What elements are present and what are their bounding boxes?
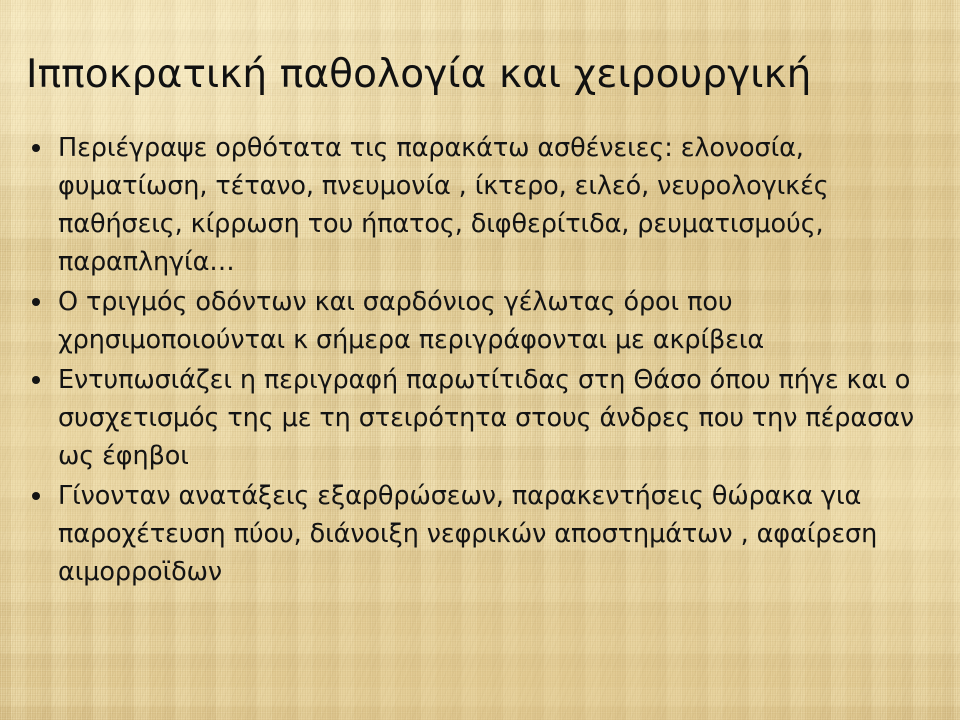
- bullet-item-terms: Ο τριγμός οδόντων και σαρδόνιος γέλωτας …: [26, 283, 938, 359]
- bullet-point-icon: [32, 376, 40, 384]
- bullet-item-text: Περιέγραψε ορθότατα τις παρακάτω ασθένει…: [58, 129, 938, 281]
- bullet-item-text: Ο τριγμός οδόντων και σαρδόνιος γέλωτας …: [58, 283, 938, 359]
- bullet-point-icon: [32, 144, 40, 152]
- bullet-item-mumps: Εντυπωσιάζει η περιγραφή παρωτίτιδας στη…: [26, 361, 938, 475]
- slide-title: Ιπποκρατική παθολογία και χειρουργική: [26, 52, 936, 98]
- presentation-slide: Ιπποκρατική παθολογία και χειρουργική Πε…: [0, 0, 960, 720]
- slide-content: Ιπποκρατική παθολογία και χειρουργική Πε…: [0, 0, 960, 720]
- bullet-point-icon: [32, 298, 40, 306]
- bullet-item-diseases: Περιέγραψε ορθότατα τις παρακάτω ασθένει…: [26, 129, 938, 281]
- bullet-item-text: Γίνονταν ανατάξεις εξαρθρώσεων, παρακεντ…: [58, 477, 938, 591]
- slide-bullet-list: Περιέγραψε ορθότατα τις παρακάτω ασθένει…: [26, 129, 938, 593]
- bullet-item-surgery: Γίνονταν ανατάξεις εξαρθρώσεων, παρακεντ…: [26, 477, 938, 591]
- bullet-item-text: Εντυπωσιάζει η περιγραφή παρωτίτιδας στη…: [58, 361, 938, 475]
- bullet-point-icon: [32, 492, 40, 500]
